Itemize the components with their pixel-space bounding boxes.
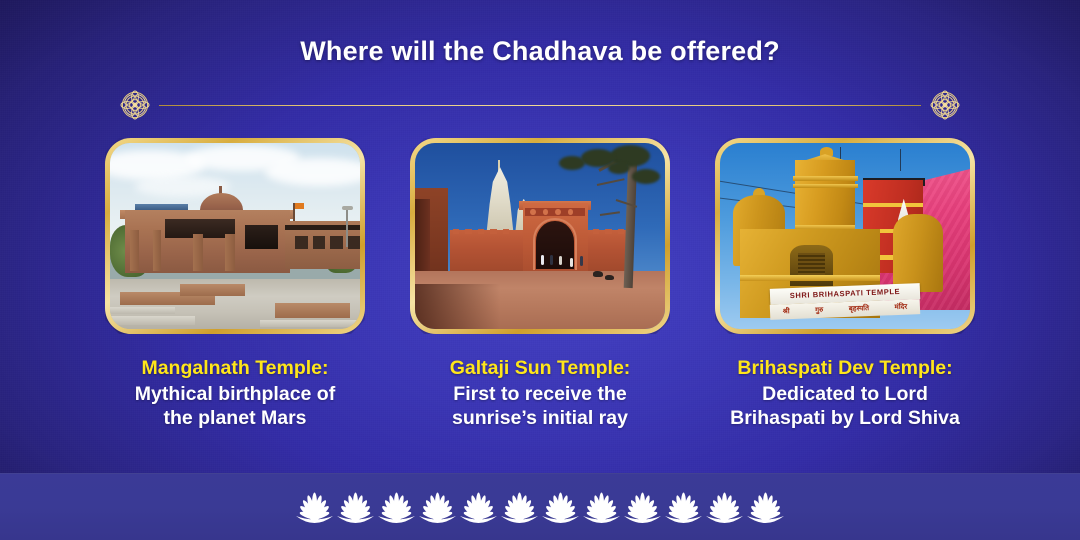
lotus-icon bbox=[294, 492, 335, 526]
lotus-icon bbox=[745, 492, 786, 526]
card-title: Galtaji Sun Temple: bbox=[410, 357, 670, 381]
temple-photo-mangalnath bbox=[110, 143, 360, 329]
divider-line bbox=[159, 105, 921, 106]
image-frame-inner: SHRI BRIHASPATI TEMPLE श्री गुरु बृहस्पत… bbox=[720, 143, 970, 329]
temple-card-galtaji[interactable]: Galtaji Sun Temple: First to receive the… bbox=[410, 138, 670, 430]
lotus-icon bbox=[376, 492, 417, 526]
image-frame: SHRI BRIHASPATI TEMPLE श्री गुरु बृहस्पत… bbox=[715, 138, 975, 334]
page-title: Where will the Chadhava be offered? bbox=[0, 36, 1080, 67]
image-frame-inner bbox=[415, 143, 665, 329]
lotus-icon bbox=[335, 492, 376, 526]
lotus-icon bbox=[581, 492, 622, 526]
card-desc-line1: Dedicated to Lord bbox=[699, 383, 991, 407]
lotus-icon bbox=[458, 492, 499, 526]
card-desc-line1: First to receive the bbox=[410, 383, 670, 407]
temple-photo-brihaspati: SHRI BRIHASPATI TEMPLE श्री गुरु बृहस्पत… bbox=[720, 143, 970, 329]
lotus-icon bbox=[663, 492, 704, 526]
lotus-icon bbox=[622, 492, 663, 526]
sign-hi-2: गुरु bbox=[815, 306, 823, 315]
temple-card-brihaspati[interactable]: SHRI BRIHASPATI TEMPLE श्री गुरु बृहस्पत… bbox=[715, 138, 975, 430]
image-frame bbox=[410, 138, 670, 334]
lotus-icon bbox=[704, 492, 745, 526]
image-frame-inner bbox=[110, 143, 360, 329]
slide-canvas: Where will the Chadhava be offered? bbox=[0, 0, 1080, 540]
temple-photo-galtaji bbox=[415, 143, 665, 329]
mandala-rosette-icon bbox=[925, 85, 965, 125]
lotus-icon bbox=[499, 492, 540, 526]
card-title: Mangalnath Temple: bbox=[105, 357, 365, 381]
lotus-icon bbox=[540, 492, 581, 526]
card-caption: Galtaji Sun Temple: First to receive the… bbox=[410, 357, 670, 430]
mandala-rosette-icon bbox=[115, 85, 155, 125]
card-caption: Brihaspati Dev Temple: Dedicated to Lord… bbox=[699, 357, 991, 430]
card-desc-line2: Brihaspati by Lord Shiva bbox=[699, 407, 991, 431]
card-desc-line1: Mythical birthplace of bbox=[105, 383, 365, 407]
card-desc-line2: the planet Mars bbox=[105, 407, 365, 431]
image-frame bbox=[105, 138, 365, 334]
temple-card-mangalnath[interactable]: Mangalnath Temple: Mythical birthplace o… bbox=[105, 138, 365, 430]
ornamental-divider bbox=[115, 86, 965, 124]
sign-hi-3: बृहस्पति bbox=[849, 304, 870, 314]
sign-hi-1: श्री bbox=[783, 307, 790, 316]
card-title: Brihaspati Dev Temple: bbox=[699, 357, 991, 381]
lotus-icon bbox=[417, 492, 458, 526]
card-desc-line2: sunrise’s initial ray bbox=[410, 407, 670, 431]
card-caption: Mangalnath Temple: Mythical birthplace o… bbox=[105, 357, 365, 430]
lotus-border-strip bbox=[0, 491, 1080, 527]
sign-hi-4: मंदिर bbox=[894, 303, 907, 312]
temple-card-row: Mangalnath Temple: Mythical birthplace o… bbox=[0, 138, 1080, 430]
footer-band bbox=[0, 473, 1080, 540]
